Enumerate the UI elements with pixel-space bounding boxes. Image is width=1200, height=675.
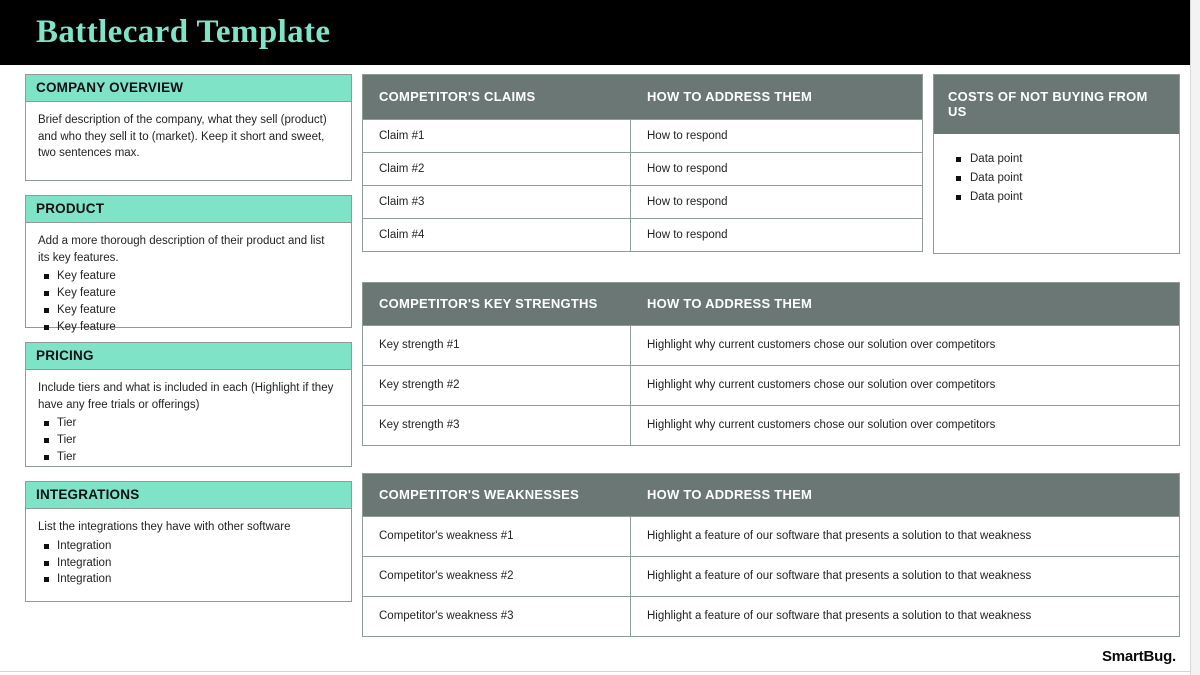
list-item: Key feature — [38, 302, 339, 319]
list-item: Key feature — [38, 268, 339, 285]
table-header-row: COMPETITOR'S CLAIMS HOW TO ADDRESS THEM — [363, 75, 922, 119]
smartbug-logo: SmartBug. — [1102, 648, 1176, 665]
column-header-address: HOW TO ADDRESS THEM — [631, 283, 1179, 325]
column-header-weaknesses: COMPETITOR'S WEAKNESSES — [363, 474, 631, 516]
panel-heading-integrations: INTEGRATIONS — [26, 482, 351, 509]
panel-pricing: PRICING Include tiers and what is includ… — [25, 342, 352, 467]
title-banner: Battlecard Template — [0, 0, 1190, 65]
table-row: Competitor's weakness #1 Highlight a fea… — [363, 516, 1179, 556]
cell-claim: Claim #3 — [363, 186, 631, 218]
column-header-address: HOW TO ADDRESS THEM — [631, 474, 1179, 516]
cell-response: How to respond — [631, 153, 922, 185]
table-row: Competitor's weakness #2 Highlight a fea… — [363, 556, 1179, 596]
cell-claim: Claim #1 — [363, 120, 631, 152]
cell-strength: Key strength #3 — [363, 406, 631, 445]
table-row: Key strength #2 Highlight why current cu… — [363, 365, 1179, 405]
list-item: Key feature — [38, 319, 339, 336]
panel-body-integrations: List the integrations they have with oth… — [26, 509, 351, 601]
bullet-list-product: Key feature Key feature Key feature Key … — [38, 268, 339, 336]
table-row: Claim #4 How to respond — [363, 218, 922, 251]
cell-response: How to respond — [631, 219, 922, 251]
panel-text-company-overview: Brief description of the company, what t… — [38, 112, 339, 162]
column-header-strengths: COMPETITOR'S KEY STRENGTHS — [363, 283, 631, 325]
list-item: Tier — [38, 432, 339, 449]
panel-text-pricing: Include tiers and what is included in ea… — [38, 380, 339, 413]
panel-heading-costs: COSTS OF NOT BUYING FROM US — [934, 75, 1179, 134]
table-header-row: COMPETITOR'S KEY STRENGTHS HOW TO ADDRES… — [363, 283, 1179, 325]
table-row: Claim #1 How to respond — [363, 119, 922, 152]
cell-response: Highlight why current customers chose ou… — [631, 366, 1179, 405]
battlecard-page: Battlecard Template COMPANY OVERVIEW Bri… — [0, 0, 1200, 675]
panel-body-company-overview: Brief description of the company, what t… — [26, 102, 351, 180]
cell-response: Highlight why current customers chose ou… — [631, 406, 1179, 445]
cell-response: Highlight why current customers chose ou… — [631, 326, 1179, 365]
competitors-weaknesses-table: COMPETITOR'S WEAKNESSES HOW TO ADDRESS T… — [362, 473, 1180, 637]
cell-claim: Claim #4 — [363, 219, 631, 251]
list-item: Data point — [948, 169, 1165, 188]
cell-strength: Key strength #1 — [363, 326, 631, 365]
competitors-key-strengths-table: COMPETITOR'S KEY STRENGTHS HOW TO ADDRES… — [362, 282, 1180, 446]
cell-response: How to respond — [631, 186, 922, 218]
panel-heading-product: PRODUCT — [26, 196, 351, 223]
list-item: Integration — [38, 555, 339, 572]
competitors-claims-table: COMPETITOR'S CLAIMS HOW TO ADDRESS THEM … — [362, 74, 923, 252]
cell-weakness: Competitor's weakness #3 — [363, 597, 631, 636]
cell-claim: Claim #2 — [363, 153, 631, 185]
table-row: Competitor's weakness #3 Highlight a fea… — [363, 596, 1179, 636]
right-edge-strip — [1190, 0, 1200, 675]
cell-response: Highlight a feature of our software that… — [631, 517, 1179, 556]
panel-text-integrations: List the integrations they have with oth… — [38, 519, 339, 536]
list-item: Key feature — [38, 285, 339, 302]
cell-weakness: Competitor's weakness #2 — [363, 557, 631, 596]
table-row: Claim #3 How to respond — [363, 185, 922, 218]
footer-divider — [0, 671, 1190, 672]
panel-text-product: Add a more thorough description of their… — [38, 233, 339, 266]
column-header-claims: COMPETITOR'S CLAIMS — [363, 75, 631, 119]
panel-heading-company-overview: COMPANY OVERVIEW — [26, 75, 351, 102]
column-header-address: HOW TO ADDRESS THEM — [631, 75, 922, 119]
panel-body-product: Add a more thorough description of their… — [26, 223, 351, 327]
cell-response: Highlight a feature of our software that… — [631, 597, 1179, 636]
list-item: Integration — [38, 538, 339, 555]
panel-body-pricing: Include tiers and what is included in ea… — [26, 370, 351, 466]
bullet-list-integrations: Integration Integration Integration — [38, 538, 339, 589]
cell-weakness: Competitor's weakness #1 — [363, 517, 631, 556]
panel-body-costs: Data point Data point Data point — [934, 134, 1179, 208]
list-item: Tier — [38, 415, 339, 432]
bullet-list-costs: Data point Data point Data point — [948, 150, 1165, 208]
table-header-row: COMPETITOR'S WEAKNESSES HOW TO ADDRESS T… — [363, 474, 1179, 516]
table-row: Claim #2 How to respond — [363, 152, 922, 185]
bullet-list-pricing: Tier Tier Tier — [38, 415, 339, 466]
table-row: Key strength #3 Highlight why current cu… — [363, 405, 1179, 445]
left-column: COMPANY OVERVIEW Brief description of th… — [25, 74, 352, 616]
cell-response: How to respond — [631, 120, 922, 152]
panel-heading-pricing: PRICING — [26, 343, 351, 370]
list-item: Data point — [948, 188, 1165, 207]
list-item: Tier — [38, 449, 339, 466]
panel-integrations: INTEGRATIONS List the integrations they … — [25, 481, 352, 602]
table-row: Key strength #1 Highlight why current cu… — [363, 325, 1179, 365]
cell-response: Highlight a feature of our software that… — [631, 557, 1179, 596]
page-title: Battlecard Template — [36, 16, 330, 49]
panel-company-overview: COMPANY OVERVIEW Brief description of th… — [25, 74, 352, 181]
panel-product: PRODUCT Add a more thorough description … — [25, 195, 352, 328]
costs-of-not-buying-panel: COSTS OF NOT BUYING FROM US Data point D… — [933, 74, 1180, 254]
list-item: Data point — [948, 150, 1165, 169]
list-item: Integration — [38, 571, 339, 588]
cell-strength: Key strength #2 — [363, 366, 631, 405]
